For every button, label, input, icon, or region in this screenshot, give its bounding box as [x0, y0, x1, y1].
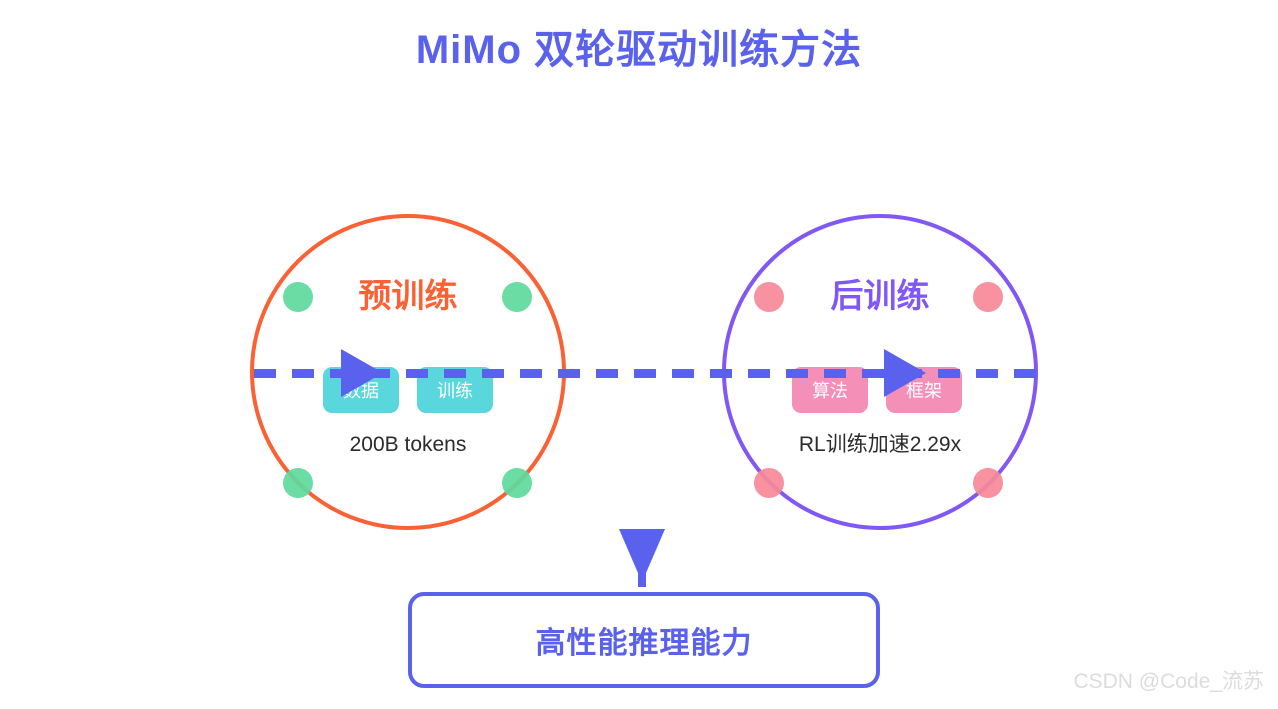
phase-dot-post-bottom-right: [973, 468, 1003, 498]
diagram-canvas: MiMo 双轮驱动训练方法 预训练 后训练 数据 训练 算法 框架 200B t…: [0, 0, 1278, 709]
outcome-label: 高性能推理能力: [536, 618, 753, 662]
outcome-box: 高性能推理能力: [408, 592, 880, 688]
phase-heading-post-training: 后训练: [722, 276, 1038, 316]
phase-dot-pre-bottom-right: [502, 468, 532, 498]
phase-heading-pre-training: 预训练: [250, 276, 566, 316]
play-triangle-icon-post: [884, 349, 926, 397]
arrow-down-icon: [615, 527, 669, 587]
phase-dot-post-bottom-left: [754, 468, 784, 498]
page-title: MiMo 双轮驱动训练方法: [0, 22, 1278, 78]
phase-caption-pre-training: 200B tokens: [250, 431, 566, 459]
phase-dot-pre-bottom-left: [283, 468, 313, 498]
phase-caption-post-training: RL训练加速2.29x: [722, 431, 1038, 459]
play-triangle-icon-pre: [341, 349, 383, 397]
watermark: CSDN @Code_流苏: [1073, 665, 1264, 695]
